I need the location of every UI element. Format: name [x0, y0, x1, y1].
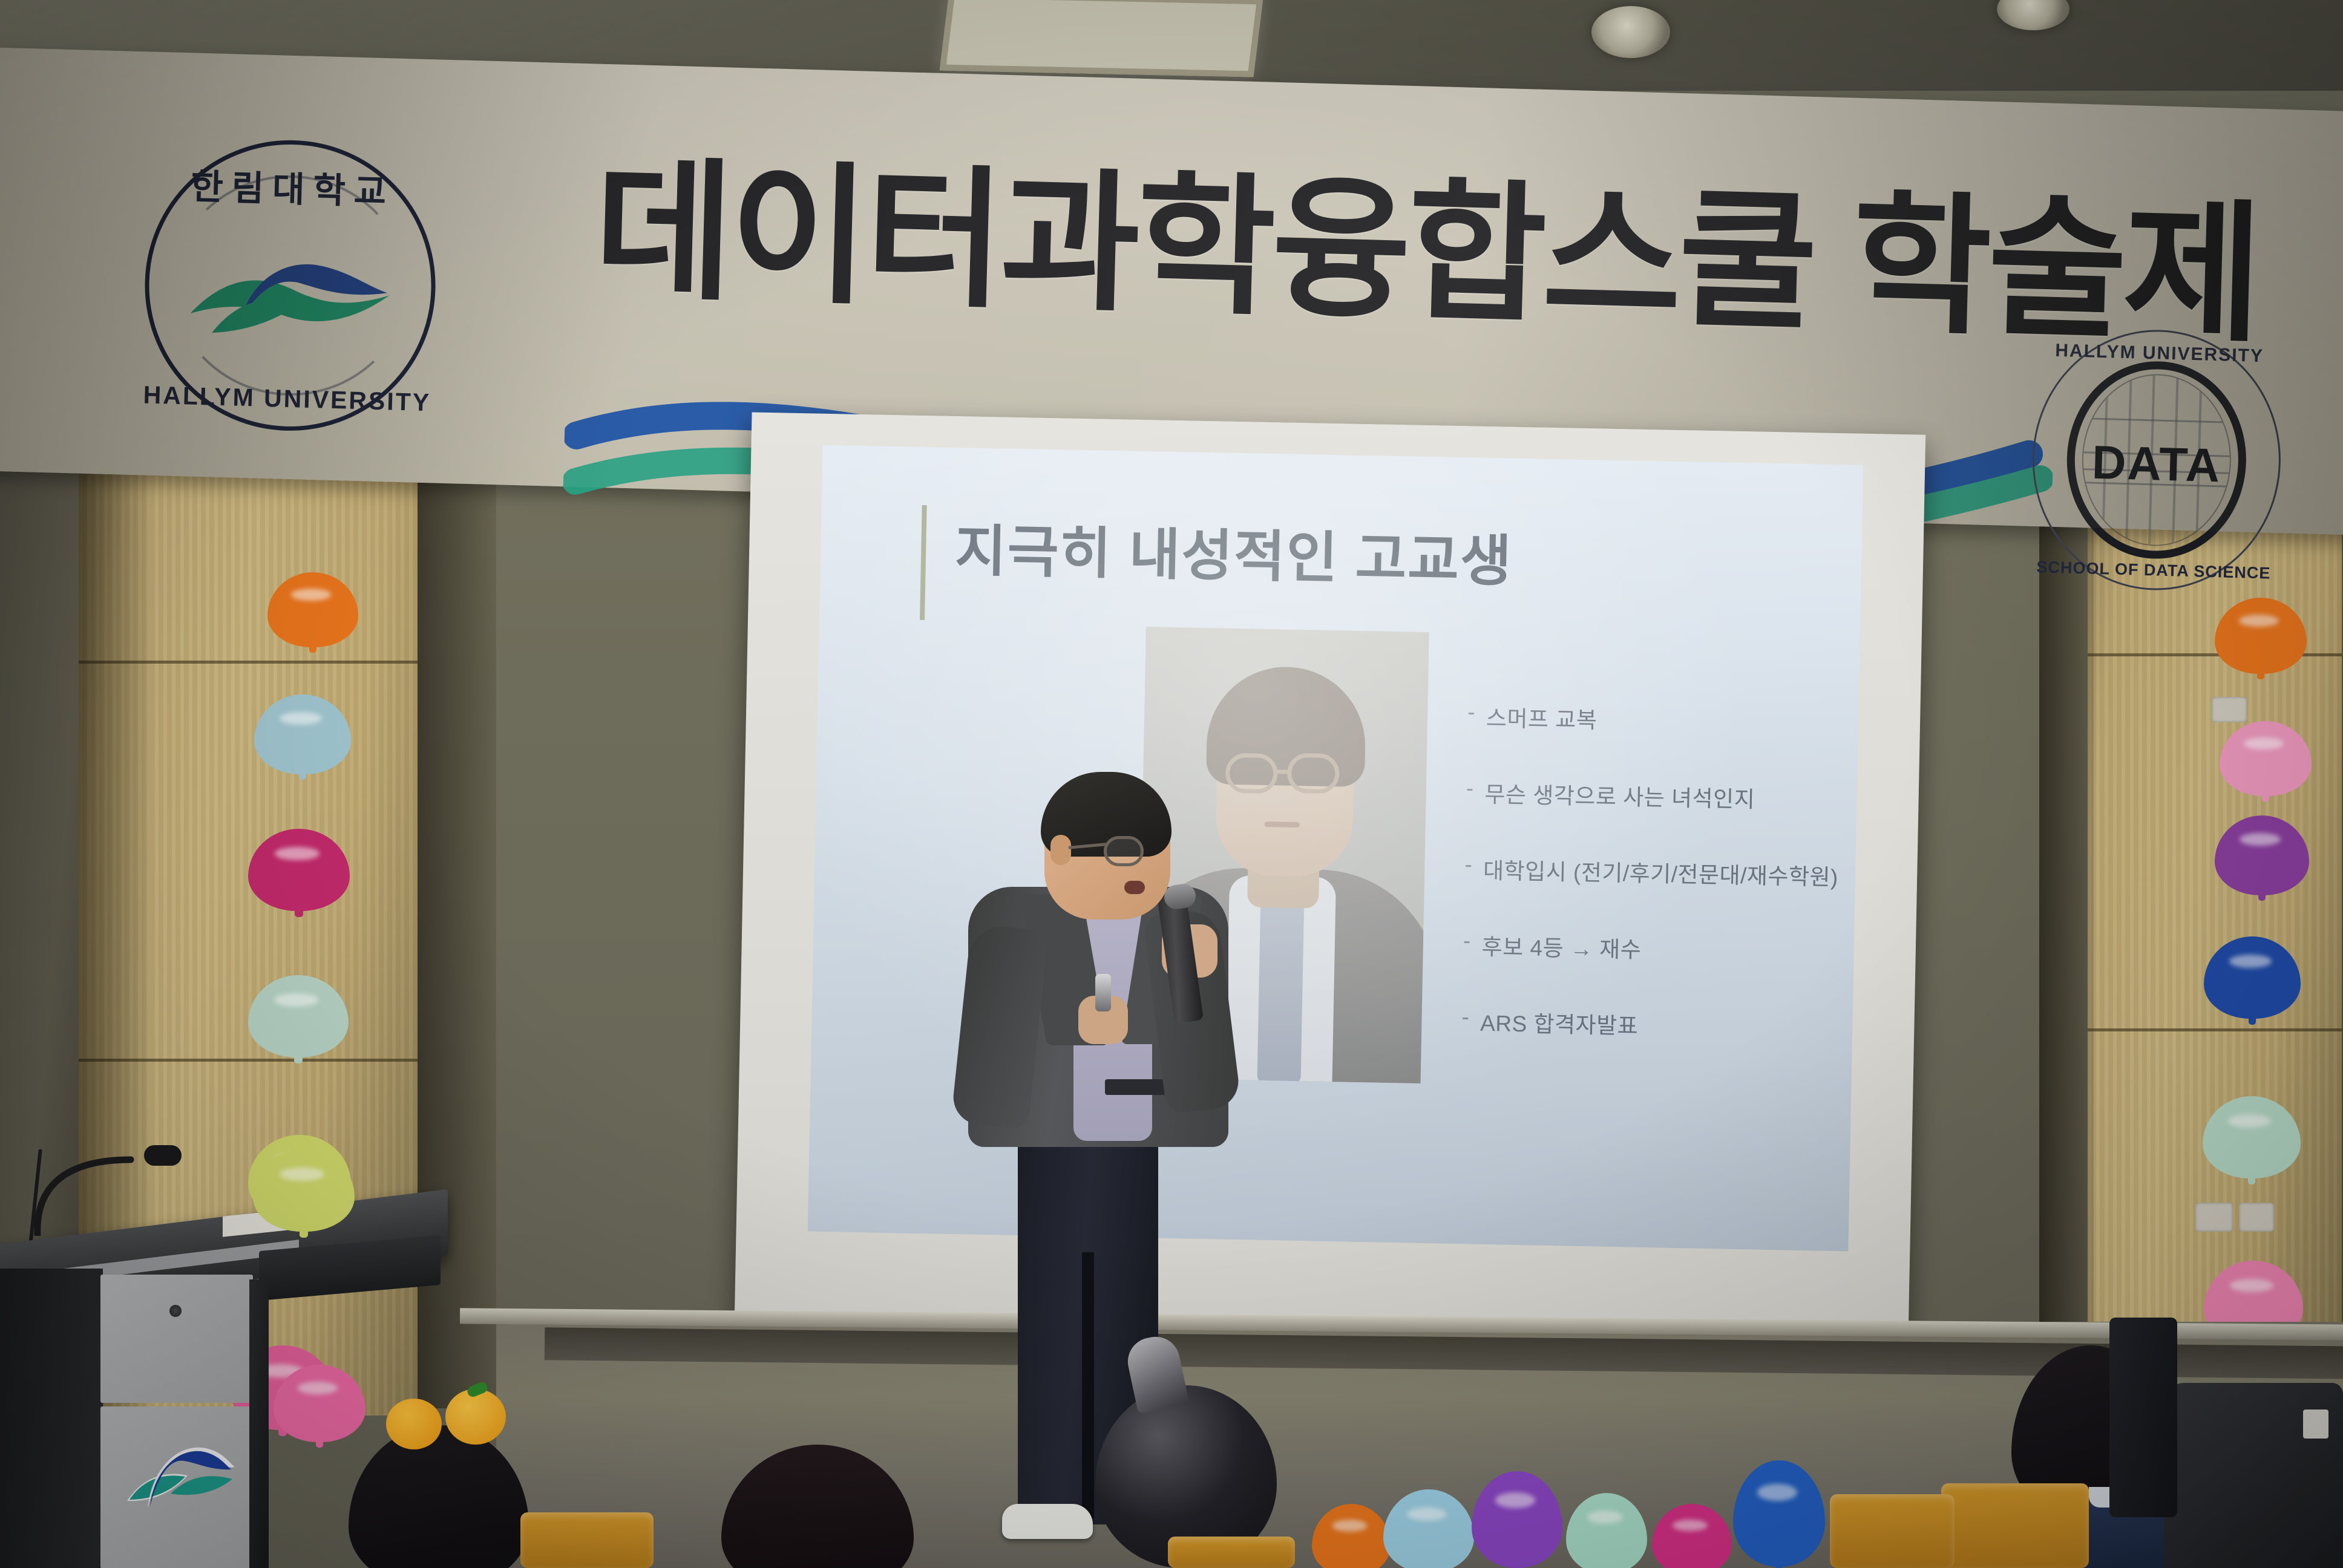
portrait-glasses-left-lens	[1225, 753, 1278, 794]
list-item: - 스머프 교복	[1467, 699, 1831, 739]
hallym-wave-emblem-icon	[178, 245, 401, 350]
glasses-icon	[1104, 836, 1144, 866]
bullet-marker: -	[1467, 699, 1476, 725]
hallym-university-seal: 한림대학교 HALLYM UNIVERSITY	[141, 137, 439, 435]
podium-hallym-emblem-icon	[116, 1436, 237, 1521]
list-item: - 후보 4등 → 재수	[1463, 928, 1826, 968]
bullet-marker: -	[1466, 776, 1474, 801]
presentation-clicker	[1095, 974, 1111, 1011]
auditorium-chair	[1941, 1483, 2089, 1568]
podium-lock-icon	[169, 1305, 182, 1317]
list-item: - 대학입시 (전기/후기/전문대/재수학원)	[1464, 852, 1828, 892]
bullet-marker: -	[1463, 928, 1472, 953]
attendee-coat-tag	[2303, 1410, 2328, 1439]
bullet-text: 무슨 생각으로 사는 녀석인지	[1484, 776, 1755, 814]
bullet-text: 스머프 교복	[1486, 700, 1597, 735]
seal-center-text: DATA	[2032, 433, 2281, 495]
list-item: - ARS 합격자발표	[1461, 1004, 1825, 1044]
portrait-glasses-bridge	[1276, 769, 1289, 774]
seal-bottom-text: SCHOOL OF DATA SCIENCE	[2030, 558, 2278, 583]
tangerine-headband-icon	[445, 1389, 506, 1445]
bullet-text: ARS 합격자발표	[1480, 1005, 1639, 1040]
bullet-marker: -	[1464, 852, 1473, 877]
tangerine-headband-icon	[386, 1399, 442, 1449]
auditorium-chair	[520, 1512, 654, 1568]
bullet-text: 후보 4등 → 재수	[1481, 929, 1642, 964]
wall-outlet	[2195, 1203, 2233, 1232]
auditorium-chair	[1830, 1494, 1955, 1568]
podium-frame-right	[249, 1279, 269, 1568]
auditorium-photo: 한림대학교 HALLYM UNIVERSITY 데이터과학융합스쿨 학술제 HA…	[0, 0, 2343, 1568]
presenter-leg-gap	[1082, 1252, 1094, 1518]
auditorium-chair	[1168, 1537, 1295, 1568]
slide-title-accent-bar	[920, 505, 927, 620]
attendee-sleeve	[2109, 1318, 2177, 1517]
presenter-shoe	[1002, 1504, 1093, 1539]
podium-mic-capsule	[144, 1145, 182, 1166]
bullet-text: 대학입시 (전기/후기/전문대/재수학원)	[1483, 852, 1839, 892]
podium-frame-left	[0, 1269, 103, 1568]
list-item: - 무슨 생각으로 사는 녀석인지	[1466, 776, 1829, 815]
seal-korean-name: 한림대학교	[147, 157, 439, 215]
school-of-data-science-seal: HALLYM UNIVERSITY SCHOOL OF DATA SCIENCE…	[2029, 327, 2284, 593]
projection-screen: 지극히 내성적인 고교생 - 스머프 교복	[735, 413, 1925, 1342]
bullet-marker: -	[1461, 1004, 1470, 1030]
banner-title: 데이터과학융합스쿨 학술제	[592, 155, 2000, 344]
wall-outlet	[2239, 1203, 2274, 1232]
podium-panel-upper	[100, 1275, 253, 1403]
ceiling-light-panel	[940, 0, 1263, 77]
presenter-mouth	[1124, 881, 1145, 894]
presenter-ear	[1050, 835, 1071, 865]
portrait-glasses-right-lens	[1287, 753, 1340, 794]
slide-title: 지극히 내성적인 고교생	[954, 506, 1513, 597]
slide-bullet-list: - 스머프 교복 - 무슨 생각으로 사는 녀석인지 - 대학입시 (전기/후기…	[1461, 699, 1831, 1087]
wall-outlet	[2212, 697, 2247, 722]
ceiling-downlight	[1591, 6, 1670, 58]
